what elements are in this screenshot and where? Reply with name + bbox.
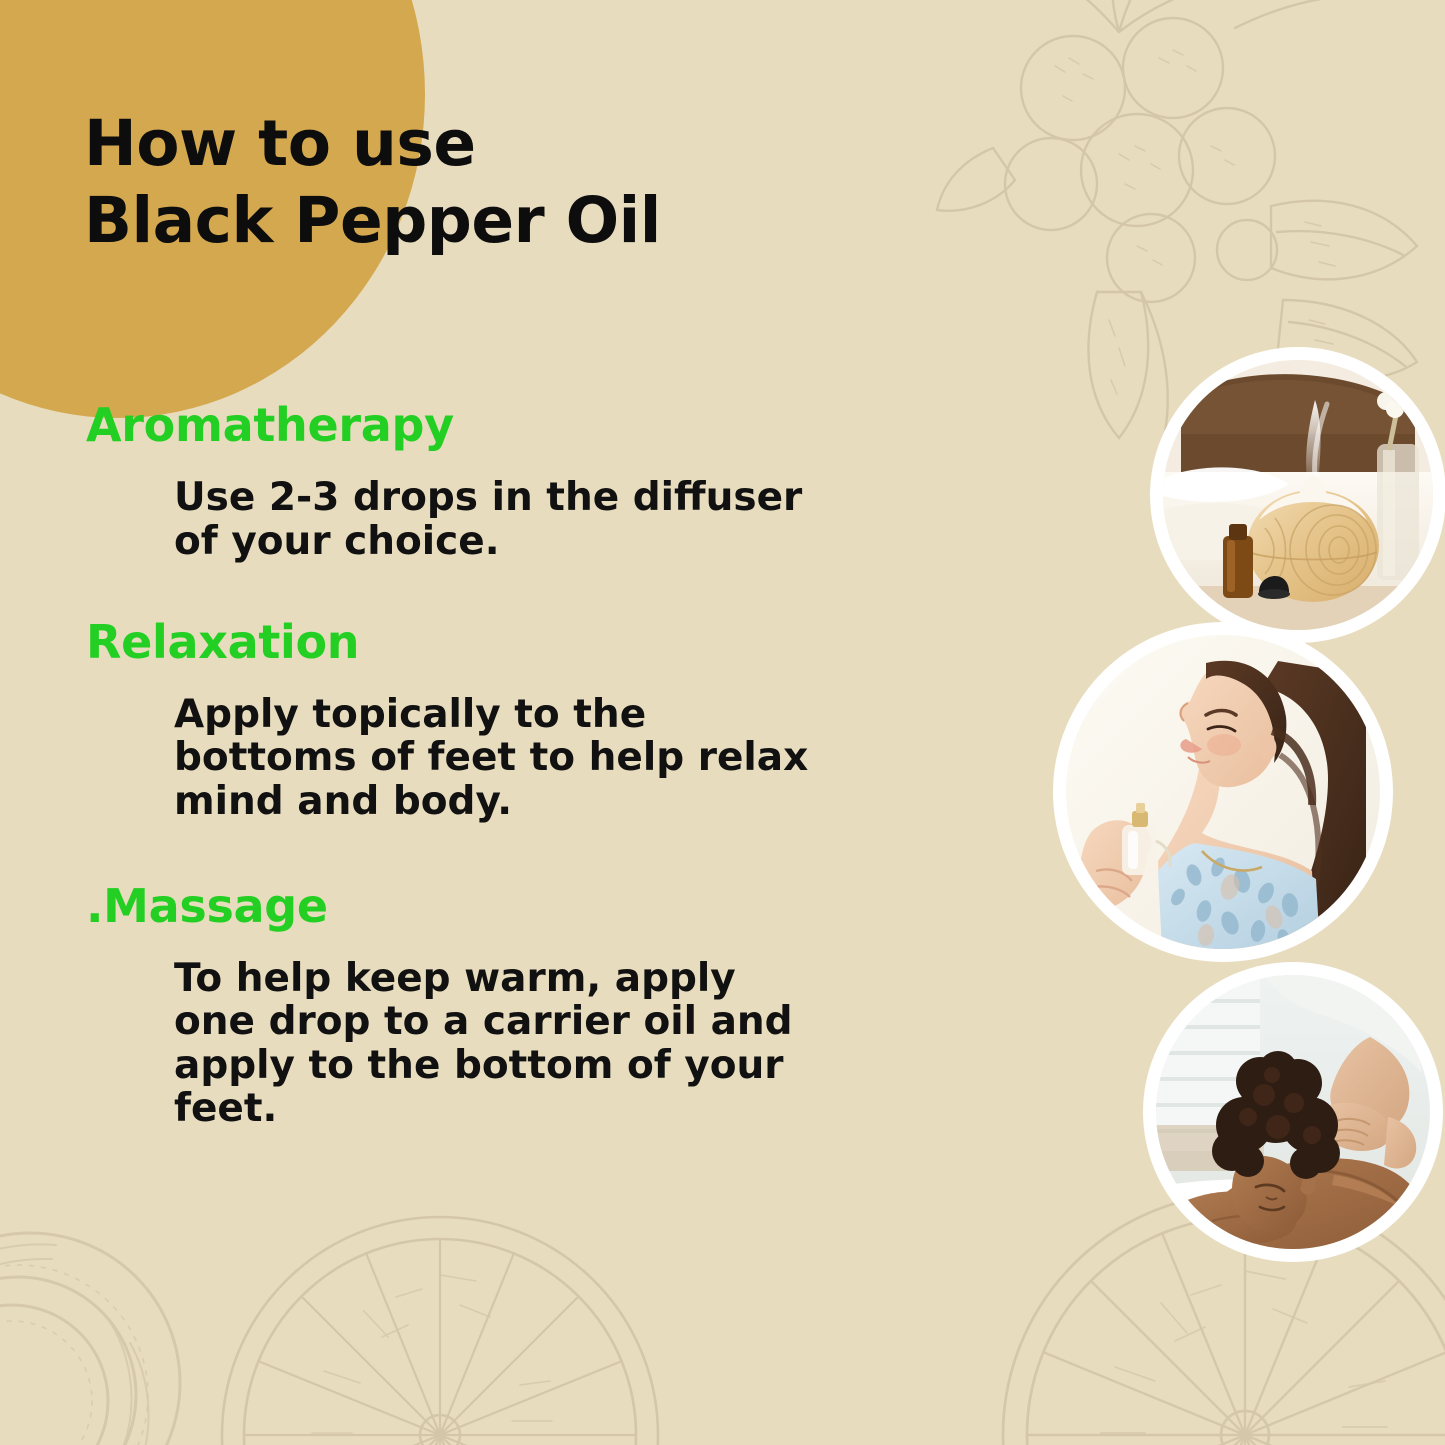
massage-photo — [1143, 962, 1443, 1262]
title-line-2: Black Pepper Oil — [84, 183, 844, 260]
section-massage: .Massage To help keep warm, apply one dr… — [0, 879, 860, 1130]
relaxation-perfume-photo-inner — [1066, 635, 1380, 949]
citrus-slice-watermark-icon — [160, 1185, 720, 1445]
relaxation-perfume-photo — [1053, 622, 1393, 962]
infographic-poster: How to use Black Pepper Oil Aromatherapy… — [0, 0, 1445, 1445]
round-fruit-watermark-icon — [0, 1215, 210, 1445]
title-line-1: How to use — [84, 106, 844, 183]
section-body-massage: To help keep warm, apply one drop to a c… — [174, 957, 814, 1130]
section-relaxation: Relaxation Apply topically to the bottom… — [0, 615, 860, 823]
section-aromatherapy: Aromatherapy Use 2-3 drops in the diffus… — [0, 398, 860, 563]
usage-sections: Aromatherapy Use 2-3 drops in the diffus… — [0, 398, 860, 1170]
diffuser-illustration — [1163, 360, 1433, 630]
section-body-aromatherapy: Use 2-3 drops in the diffuser of your ch… — [174, 476, 814, 563]
page-title: How to use Black Pepper Oil — [84, 106, 844, 260]
section-heading-aromatherapy: Aromatherapy — [86, 398, 860, 452]
section-heading-relaxation: Relaxation — [86, 615, 860, 669]
section-heading-massage: .Massage — [86, 879, 860, 933]
massage-illustration — [1156, 975, 1430, 1249]
massage-photo-inner — [1156, 975, 1430, 1249]
aromatherapy-diffuser-photo — [1150, 347, 1445, 643]
section-body-relaxation: Apply topically to the bottoms of feet t… — [174, 693, 814, 823]
aromatherapy-diffuser-photo-inner — [1163, 360, 1433, 630]
woman-applying-oil-illustration — [1066, 635, 1380, 949]
